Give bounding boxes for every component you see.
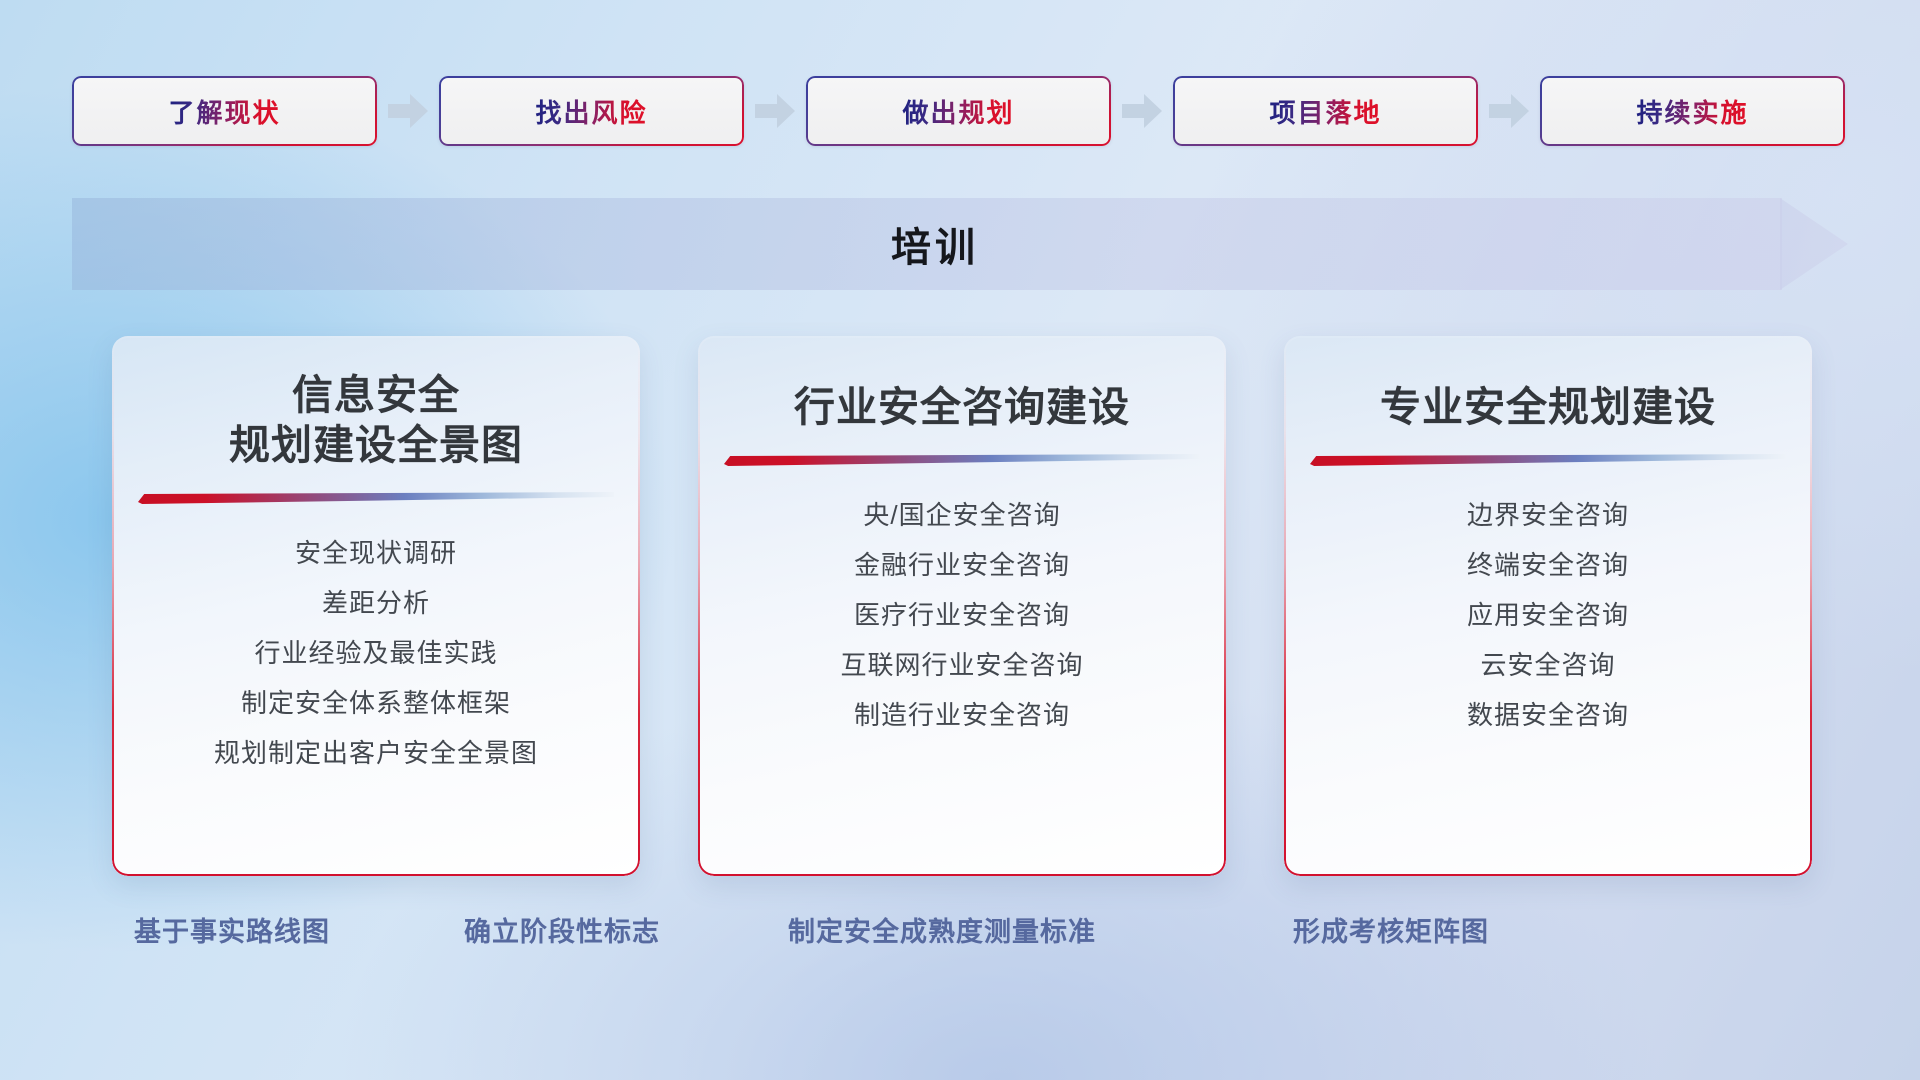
- list-item[interactable]: 金融行业安全咨询: [854, 544, 1070, 586]
- process-step-1[interactable]: 了解现状: [72, 76, 377, 146]
- capability-card-1[interactable]: 信息安全规划建设全景图 安全现状调研差距分析行业经验及最佳实践制定安全体系整体框…: [112, 336, 640, 876]
- process-step-label: 持续实施: [1636, 93, 1748, 130]
- outcome-caption-2: 确立阶段性标志: [464, 910, 660, 949]
- process-step-5[interactable]: 持续实施: [1540, 76, 1845, 146]
- outcome-caption-1: 基于事实路线图: [134, 910, 330, 949]
- card-inner: 信息安全规划建设全景图 安全现状调研差距分析行业经验及最佳实践制定安全体系整体框…: [112, 336, 640, 876]
- outcome-captions: 基于事实路线图确立阶段性标志制定安全成熟度测量标准形成考核矩阵图: [0, 910, 1920, 960]
- list-item[interactable]: 制造行业安全咨询: [854, 694, 1070, 736]
- card-service-list: 边界安全咨询终端安全咨询应用安全咨询云安全咨询数据安全咨询: [1310, 494, 1786, 737]
- step-arrow-icon: [1478, 74, 1540, 148]
- process-step-flow: 了解现状 找出风险 做出规划 项目落地 持续实施: [72, 74, 1848, 148]
- card-title: 信息安全规划建设全景图: [229, 370, 523, 470]
- process-step-3[interactable]: 做出规划: [806, 76, 1111, 146]
- process-step-label: 找出风险: [535, 93, 647, 130]
- training-banner: 培训: [72, 198, 1848, 290]
- capability-cards: 信息安全规划建设全景图 安全现状调研差距分析行业经验及最佳实践制定安全体系整体框…: [112, 336, 1812, 876]
- process-step-label: 做出规划: [902, 93, 1014, 130]
- list-item[interactable]: 医疗行业安全咨询: [854, 594, 1070, 636]
- card-title-line: 信息安全: [229, 370, 523, 420]
- list-item[interactable]: 安全现状调研: [295, 532, 457, 574]
- card-service-list: 安全现状调研差距分析行业经验及最佳实践制定安全体系整体框架规划制定出客户安全全景…: [138, 532, 614, 775]
- list-item[interactable]: 边界安全咨询: [1467, 494, 1629, 536]
- card-inner: 行业安全咨询建设 央/国企安全咨询金融行业安全咨询医疗行业安全咨询互联网行业安全…: [698, 336, 1226, 876]
- process-step-2[interactable]: 找出风险: [439, 76, 744, 146]
- process-step-4[interactable]: 项目落地: [1173, 76, 1478, 146]
- list-item[interactable]: 云安全咨询: [1480, 644, 1615, 686]
- list-item[interactable]: 央/国企安全咨询: [863, 494, 1060, 536]
- outcome-caption-3: 制定安全成熟度测量标准: [788, 910, 1096, 949]
- process-step-label: 了解现状: [168, 93, 280, 130]
- gradient-divider-icon: [1310, 454, 1786, 466]
- list-item[interactable]: 制定安全体系整体框架: [241, 682, 511, 724]
- card-title-line: 专业安全规划建设: [1380, 382, 1716, 432]
- step-arrow-icon: [377, 74, 439, 148]
- list-item[interactable]: 数据安全咨询: [1467, 694, 1629, 736]
- card-title: 行业安全咨询建设: [794, 382, 1130, 432]
- step-arrow-icon: [744, 74, 806, 148]
- card-service-list: 央/国企安全咨询金融行业安全咨询医疗行业安全咨询互联网行业安全咨询制造行业安全咨…: [724, 494, 1200, 737]
- capability-card-3[interactable]: 专业安全规划建设 边界安全咨询终端安全咨询应用安全咨询云安全咨询数据安全咨询: [1284, 336, 1812, 876]
- card-title: 专业安全规划建设: [1380, 382, 1716, 432]
- outcome-caption-4: 形成考核矩阵图: [1293, 910, 1489, 949]
- slide-canvas: 了解现状 找出风险 做出规划 项目落地 持续实施 培训 信息安全规划建设全景图: [0, 0, 1920, 1080]
- step-arrow-icon: [1111, 74, 1173, 148]
- process-step-label: 项目落地: [1269, 93, 1381, 130]
- list-item[interactable]: 行业经验及最佳实践: [254, 632, 497, 674]
- list-item[interactable]: 规划制定出客户安全全景图: [214, 732, 538, 774]
- banner-title: 培训: [72, 198, 1848, 290]
- card-inner: 专业安全规划建设 边界安全咨询终端安全咨询应用安全咨询云安全咨询数据安全咨询: [1284, 336, 1812, 876]
- gradient-divider-icon: [138, 492, 614, 504]
- capability-card-2[interactable]: 行业安全咨询建设 央/国企安全咨询金融行业安全咨询医疗行业安全咨询互联网行业安全…: [698, 336, 1226, 876]
- card-title-line: 行业安全咨询建设: [794, 382, 1130, 432]
- card-title-line: 规划建设全景图: [229, 420, 523, 470]
- list-item[interactable]: 应用安全咨询: [1467, 594, 1629, 636]
- list-item[interactable]: 差距分析: [322, 582, 430, 624]
- gradient-divider-icon: [724, 454, 1200, 466]
- list-item[interactable]: 终端安全咨询: [1467, 544, 1629, 586]
- list-item[interactable]: 互联网行业安全咨询: [840, 644, 1083, 686]
